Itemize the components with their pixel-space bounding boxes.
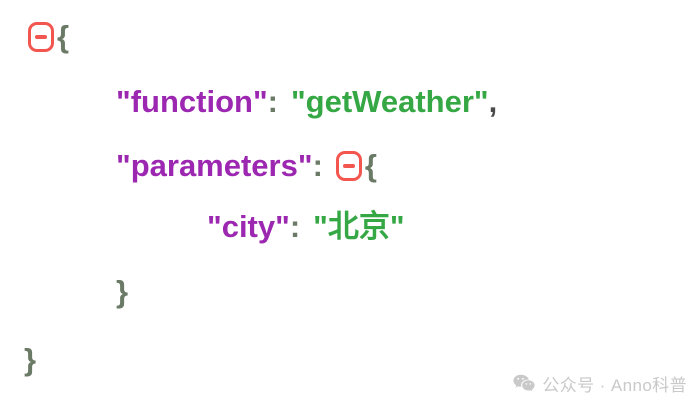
json-line-parameters: "parameters" : {	[116, 150, 377, 181]
json-value-city[interactable]: "北京"	[313, 211, 404, 242]
json-line-city: "city" : "北京"	[207, 211, 405, 242]
parameters-open-brace: {	[365, 150, 377, 181]
json-line-parameters-close: }	[116, 276, 128, 307]
json-tree-viewer: { "function" : "getWeather" , "parameter…	[0, 0, 699, 405]
json-value-function[interactable]: "getWeather"	[291, 86, 489, 117]
json-key-city[interactable]: "city"	[207, 211, 290, 242]
comma-separator: ,	[489, 86, 498, 117]
json-line-root-open: {	[28, 21, 69, 52]
json-line-root-close: }	[24, 344, 36, 375]
colon-separator: :	[290, 211, 300, 242]
json-line-function: "function" : "getWeather" ,	[116, 86, 497, 117]
json-key-function[interactable]: "function"	[116, 86, 268, 117]
colon-separator: :	[268, 86, 278, 117]
watermark: 公众号 · Anno科普	[513, 371, 687, 396]
wechat-icon	[513, 374, 535, 393]
root-close-brace: }	[24, 344, 36, 375]
colon-separator: :	[313, 150, 323, 181]
collapse-minus-icon[interactable]	[336, 151, 362, 181]
watermark-text: 公众号 · Anno科普	[542, 371, 687, 396]
json-key-parameters[interactable]: "parameters"	[116, 150, 313, 181]
root-open-brace: {	[57, 21, 69, 52]
collapse-minus-icon[interactable]	[28, 22, 54, 52]
parameters-close-brace: }	[116, 276, 128, 307]
